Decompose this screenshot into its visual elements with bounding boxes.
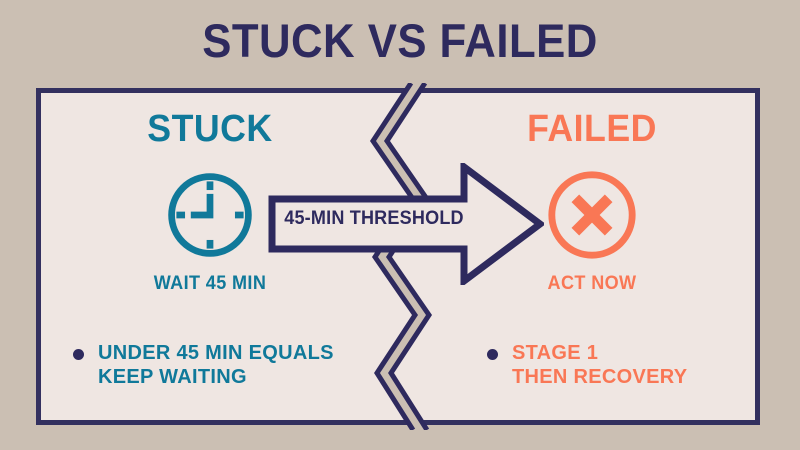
page-title: STUCK VS FAILED <box>28 16 772 66</box>
bullet-text-failed: STAGE 1 THEN RECOVERY <box>512 341 687 389</box>
bullet-dot-icon <box>73 349 84 360</box>
bullet-dot-icon <box>487 349 498 360</box>
bullet-stuck: UNDER 45 MIN EQUALS KEEP WAITING <box>73 341 334 389</box>
heading-stuck: STUCK <box>55 109 365 149</box>
heading-failed: FAILED <box>437 109 747 149</box>
arrow-label: 45-MIN THRESHOLD <box>284 208 465 230</box>
bullet-text-stuck: UNDER 45 MIN EQUALS KEEP WAITING <box>98 341 334 389</box>
x-circle-icon <box>543 166 641 264</box>
infographic-canvas: STUCK VS FAILED STUCK WAIT 45 MIN <box>0 0 800 450</box>
clock-icon <box>162 167 258 263</box>
bullet-failed: STAGE 1 THEN RECOVERY <box>487 341 687 389</box>
